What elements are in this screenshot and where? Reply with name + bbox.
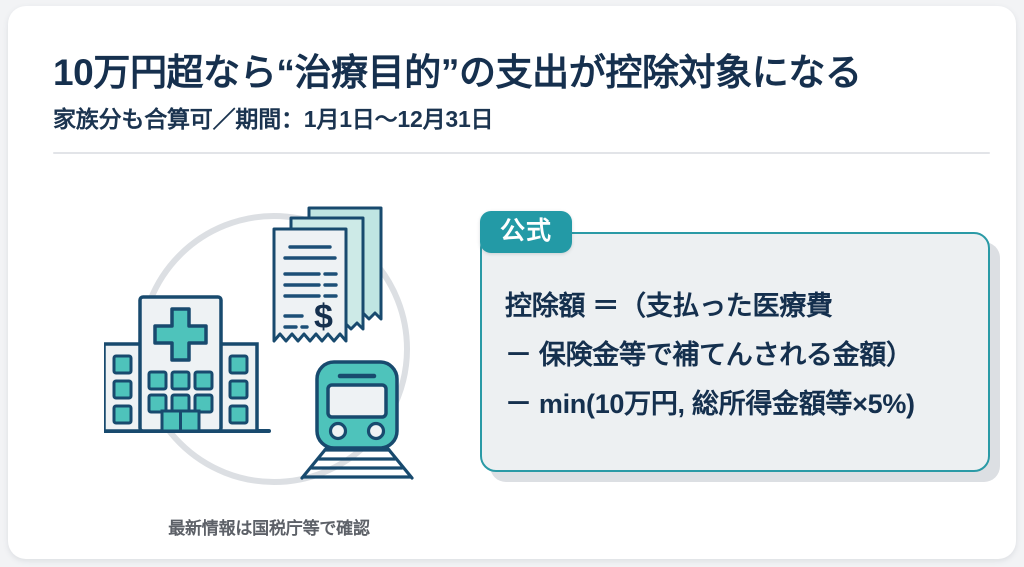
receipt-stack-icon: $ xyxy=(274,208,381,341)
illustration-caption: 最新情報は国税庁等で確認 xyxy=(104,514,434,539)
hospital-building-icon xyxy=(104,297,269,431)
header-divider xyxy=(53,152,990,154)
svg-text:$: $ xyxy=(314,298,333,336)
formula-line-1: 控除額 ＝（支払った医療費 xyxy=(505,282,975,331)
formula-line-2: － 保険金等で補てんされる金額） xyxy=(505,331,975,380)
dollar-sign-icon: $ xyxy=(314,298,333,336)
slide-root: 10万円超なら“治療目的”の支出が控除対象になる 家族分も合算可／期間：1月1日… xyxy=(0,0,1024,567)
train-icon xyxy=(302,362,412,478)
formula-line-3: － min(10万円, 総所得金額等×5%) xyxy=(505,380,975,429)
formula-badge: 公式 xyxy=(480,211,572,253)
illustration-group: $ xyxy=(104,186,434,516)
formula-text-block: 控除額 ＝（支払った医療費 － 保険金等で補てんされる金額） － min(10万… xyxy=(505,282,975,429)
content-card: 10万円超なら“治療目的”の支出が控除対象になる 家族分も合算可／期間：1月1日… xyxy=(8,6,1016,559)
page-subtitle: 家族分も合算可／期間：1月1日〜12月31日 xyxy=(53,100,493,134)
page-title: 10万円超なら“治療目的”の支出が控除対象になる xyxy=(53,42,862,96)
